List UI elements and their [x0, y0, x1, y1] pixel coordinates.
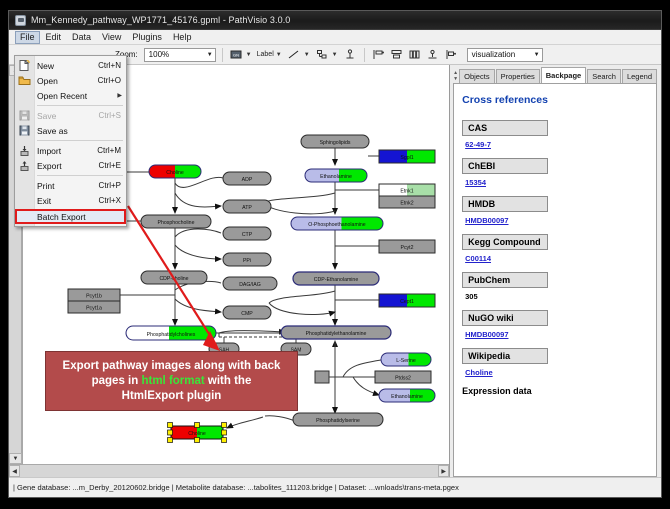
xref-block-hmdb: HMDB HMDB00097 — [462, 196, 648, 225]
xref-value[interactable]: Choline — [462, 368, 648, 377]
file-menu-item-save-as[interactable]: Save as — [15, 123, 126, 138]
pathway-node-pcyt1b[interactable]: Pcyt1b — [68, 289, 120, 301]
file-menu-label: Batch Export — [37, 212, 124, 222]
align-bottom-tool-icon[interactable] — [425, 47, 440, 62]
xref-value[interactable]: C00114 — [462, 254, 648, 263]
annotation-callout-text: Export pathway images along with back pa… — [63, 359, 281, 404]
statusbar: | Gene database: ...m_Derby_20120602.bri… — [9, 477, 661, 497]
menu-edit[interactable]: Edit — [41, 31, 67, 44]
node-label: Choline — [188, 431, 206, 437]
file-menu-item-print[interactable]: Print Ctrl+P — [15, 178, 126, 193]
stack-tool-icon[interactable] — [443, 47, 458, 62]
xref-value[interactable]: HMDB00097 — [462, 330, 648, 339]
backpage-panel: Cross references CAS 62-49-7 ChEBI 15354… — [453, 83, 657, 477]
xref-link[interactable]: C00114 — [465, 254, 491, 263]
menu-help[interactable]: Help — [168, 31, 197, 44]
file-menu-label: Exit — [37, 196, 99, 206]
pathway-node-phosphatidylserine[interactable]: Phosphatidylserine — [293, 413, 383, 426]
side-panel-tabstrip: ▲▼ Objects Properties Backpage Search Le… — [453, 69, 657, 83]
tabstrip-overflow-icon[interactable]: ▲▼ — [453, 70, 458, 82]
visualization-value: visualization — [472, 50, 516, 59]
node-label: CMP — [241, 311, 253, 317]
xref-block-nugo-wiki: NuGO wiki HMDB00097 — [462, 310, 648, 339]
file-menu-label: Save — [37, 111, 99, 121]
pathway-node-phosphocholine[interactable]: Phosphocholine — [141, 215, 211, 228]
node-label: Etnk1 — [400, 189, 413, 195]
chevron-down-icon[interactable]: ▼ — [246, 52, 252, 58]
pathway-node-atp[interactable]: ATP — [223, 200, 271, 213]
statusbar-text: | Gene database: ...m_Derby_20120602.bri… — [13, 483, 459, 492]
xref-block-cas: CAS 62-49-7 — [462, 120, 648, 149]
file-menu-label: Print — [37, 181, 99, 191]
node-label: Phosphatidylserine — [316, 418, 360, 424]
pathway-node-cept1[interactable]: Cept1 — [379, 294, 435, 307]
canvas-horizontal-scrollbar[interactable]: ◀ ▶ — [9, 464, 449, 477]
scroll-right-icon[interactable]: ▶ — [438, 465, 449, 477]
pathway-node-cmp[interactable]: CMP — [223, 306, 271, 319]
node-label: Phosphatidylcholines — [147, 332, 196, 338]
file-menu-item-open[interactable]: Open Ctrl+O — [15, 73, 126, 88]
chevron-down-icon[interactable]: ▼ — [304, 52, 310, 58]
pathway-node-ppi[interactable]: PPi — [223, 253, 271, 266]
tab-legend[interactable]: Legend — [622, 69, 657, 83]
node-label: ADP — [242, 177, 253, 183]
menu-data[interactable]: Data — [67, 31, 96, 44]
xref-source-label: HMDB — [462, 196, 548, 212]
node-label: DAG/IAG — [239, 282, 261, 288]
tab-properties[interactable]: Properties — [496, 69, 540, 83]
callout-line3: HtmlExport plugin — [122, 390, 222, 402]
align-center-tool-icon[interactable] — [389, 47, 404, 62]
node-label: Ethanolamine — [391, 394, 423, 400]
node-label: Ethanolamine — [320, 174, 352, 180]
xref-link[interactable]: HMDB00097 — [465, 216, 508, 225]
tab-search[interactable]: Search — [587, 69, 621, 83]
file-menu-item-new[interactable]: New Ctrl+N — [15, 58, 126, 73]
pathway-node-sphingolipids[interactable]: Sphingolipids — [301, 135, 369, 148]
node-label: CDP-Ethanolamine — [314, 277, 359, 283]
xref-source-label: CAS — [462, 120, 548, 136]
file-menu-dropdown[interactable]: New Ctrl+N Open Ctrl+O Open Recent ▶ Sav… — [14, 55, 127, 227]
xref-block-pubchem: PubChem 305 — [462, 272, 648, 301]
open-folder-icon — [18, 75, 31, 86]
pathway-node-ctp[interactable]: CTP — [223, 227, 271, 240]
node-label: Ptdss2 — [395, 376, 411, 382]
node-label: O-Phosphoethanolamine — [308, 222, 366, 228]
xref-block-wikipedia: Wikipedia Choline — [462, 348, 648, 377]
file-menu-shortcut: Ctrl+N — [98, 61, 126, 70]
pathway-node-ethanolamine-2[interactable]: Ethanolamine — [379, 389, 435, 402]
node-label: CDP-choline — [159, 276, 188, 282]
xref-value[interactable]: 15354 — [462, 178, 648, 187]
callout-highlight: html format — [141, 375, 204, 387]
node-label: PPi — [243, 258, 251, 264]
file-menu-item-exit[interactable]: Exit Ctrl+X — [15, 193, 126, 208]
menubar: File Edit Data View Plugins Help — [9, 30, 661, 45]
node-label: Choline — [166, 170, 184, 176]
chevron-down-icon[interactable]: ▼ — [276, 52, 282, 58]
file-menu-label: Import — [37, 146, 97, 156]
scroll-left-icon[interactable]: ◀ — [9, 465, 20, 477]
line-tool-icon[interactable] — [287, 47, 302, 62]
node-label: Phosphocholine — [158, 220, 195, 226]
file-menu-label: Export — [37, 161, 99, 171]
file-menu-shortcut: Ctrl+X — [99, 196, 126, 205]
xref-source-label: Wikipedia — [462, 348, 548, 364]
pathway-node-sgpl1[interactable]: Sgpl1 — [379, 150, 435, 163]
scroll-down-icon[interactable]: ▼ — [9, 453, 22, 464]
node-label: Pcyt1b — [86, 294, 102, 300]
datanode-tool-icon[interactable]: GN — [229, 47, 244, 62]
annotation-callout: Export pathway images along with back pa… — [45, 351, 298, 411]
pathway-node-ptdss2[interactable]: Ptdss2 — [375, 371, 431, 383]
pathway-node-o-phosphoethanolamine[interactable]: O-Phosphoethanolamine — [291, 217, 383, 230]
xref-source-label: ChEBI — [462, 158, 548, 174]
expression-data-heading: Expression data — [462, 386, 648, 396]
file-menu-label: Save as — [37, 126, 121, 136]
file-menu-label: New — [37, 61, 98, 71]
file-menu-label: Open — [37, 76, 98, 86]
file-menu-shortcut: Ctrl+E — [99, 161, 126, 170]
menu-separator — [37, 105, 123, 106]
align-columns-tool-icon[interactable] — [407, 47, 422, 62]
tab-backpage[interactable]: Backpage — [541, 67, 586, 83]
xref-block-chebi: ChEBI 15354 — [462, 158, 648, 187]
chevron-down-icon: ▼ — [530, 52, 540, 58]
node-label: CTP — [242, 232, 253, 238]
pathway-node-ethanolamine[interactable]: Ethanolamine — [305, 169, 367, 182]
anchor-tool-icon[interactable] — [343, 47, 358, 62]
pathway-node-cdp-choline[interactable]: CDP-choline — [141, 271, 207, 284]
xref-link[interactable]: 62-49-7 — [465, 140, 491, 149]
app-icon — [15, 15, 26, 26]
xref-source-label: NuGO wiki — [462, 310, 548, 326]
window-title: Mm_Kennedy_pathway_WP1771_45176.gpml - P… — [31, 15, 290, 25]
pathway-node-pcyt2[interactable]: Pcyt2 — [379, 240, 435, 253]
file-menu-item-open-recent[interactable]: Open Recent ▶ — [15, 88, 126, 103]
tab-objects[interactable]: Objects — [459, 69, 494, 83]
cross-references-heading: Cross references — [462, 94, 648, 106]
pathway-node-pcyt1a[interactable]: Pcyt1a — [68, 301, 120, 313]
pathway-node-dagiag[interactable]: DAG/IAG — [223, 277, 277, 290]
chevron-down-icon[interactable]: ▼ — [332, 52, 338, 58]
pathway-node-phosphatidylcholines[interactable]: Phosphatidylcholines — [126, 326, 216, 340]
node-label: Sphingolipids — [320, 140, 351, 146]
callout-line2-before: pages in — [92, 375, 142, 387]
export-icon — [18, 160, 31, 171]
pathway-node-choline[interactable]: Choline — [149, 165, 201, 178]
toolbar-separator — [364, 48, 365, 62]
pathway-node-choline-selected[interactable]: Choline — [168, 423, 227, 443]
file-menu-shortcut: Ctrl+O — [98, 76, 126, 85]
file-menu-item-save[interactable]: Save Ctrl+S — [15, 108, 126, 123]
node-label: Sgpl1 — [400, 155, 413, 161]
node-label: Pcyt2 — [401, 245, 414, 251]
xref-link[interactable]: 15354 — [465, 178, 486, 187]
node-label: Cept1 — [400, 299, 414, 305]
xref-source-label: PubChem — [462, 272, 548, 288]
xref-value[interactable]: HMDB00097 — [462, 216, 648, 225]
callout-line1: Export pathway images along with back — [63, 360, 281, 372]
file-menu-label: Open Recent — [37, 91, 117, 101]
svg-text:GN: GN — [233, 53, 239, 58]
zoom-value: 100% — [149, 50, 169, 59]
menu-plugins[interactable]: Plugins — [127, 31, 167, 44]
node-label: L-Serine — [396, 358, 416, 364]
save-disk-icon — [18, 110, 31, 121]
pathway-node-etnk2[interactable]: Etnk2 — [379, 196, 435, 208]
xref-link[interactable]: HMDB00097 — [465, 330, 508, 339]
file-menu-item-batch-export[interactable]: Batch Export — [15, 209, 126, 224]
pathvisio-application-window: Mm_Kennedy_pathway_WP1771_45176.gpml - P… — [8, 10, 662, 498]
menu-separator — [37, 175, 123, 176]
node-label: Phosphatidylethanolamine — [306, 331, 367, 337]
pathway-node-phosphatidylethanolamine[interactable]: Phosphatidylethanolamine — [281, 326, 391, 339]
visualization-combobox[interactable]: visualization ▼ — [467, 48, 543, 62]
save-as-icon — [18, 125, 31, 136]
zoom-combobox[interactable]: 100% ▼ — [144, 48, 216, 62]
menu-file[interactable]: File — [15, 31, 40, 44]
xref-block-kegg-compound: Kegg Compound C00114 — [462, 234, 648, 263]
xref-value[interactable]: 62-49-7 — [462, 140, 648, 149]
node-label: ATP — [242, 205, 252, 211]
pathway-node-etnk1[interactable]: Etnk1 — [379, 184, 435, 196]
xref-link[interactable]: Choline — [465, 368, 493, 377]
new-document-icon — [18, 60, 31, 71]
window-titlebar: Mm_Kennedy_pathway_WP1771_45176.gpml - P… — [9, 11, 661, 30]
interaction-tool-icon[interactable] — [315, 47, 330, 62]
label-tool-label[interactable]: Label — [257, 51, 274, 58]
file-menu-item-export[interactable]: Export Ctrl+E — [15, 158, 126, 173]
import-icon — [18, 145, 31, 156]
pathway-node-l-serine[interactable]: L-Serine — [381, 353, 431, 366]
xref-value: 305 — [462, 292, 648, 301]
file-menu-shortcut: Ctrl+P — [99, 181, 126, 190]
node-label: Etnk2 — [400, 201, 413, 207]
toolbar-separator — [222, 48, 223, 62]
file-menu-item-import[interactable]: Import Ctrl+M — [15, 143, 126, 158]
xref-source-label: Kegg Compound — [462, 234, 548, 250]
file-menu-shortcut: Ctrl+M — [97, 146, 126, 155]
menu-separator — [37, 140, 123, 141]
callout-line2-after: with the — [205, 375, 252, 387]
align-left-tool-icon[interactable] — [371, 47, 386, 62]
file-menu-shortcut: Ctrl+S — [99, 111, 126, 120]
side-panel: ▲▼ Objects Properties Backpage Search Le… — [450, 65, 661, 477]
chevron-down-icon: ▼ — [203, 52, 213, 58]
pathway-node-adp[interactable]: ADP — [223, 172, 271, 185]
pathway-node-cdp-ethanolamine[interactable]: CDP-Ethanolamine — [293, 272, 379, 285]
node-label: Pcyt1a — [86, 306, 102, 312]
submenu-arrow-icon: ▶ — [117, 92, 126, 99]
menu-view[interactable]: View — [97, 31, 126, 44]
